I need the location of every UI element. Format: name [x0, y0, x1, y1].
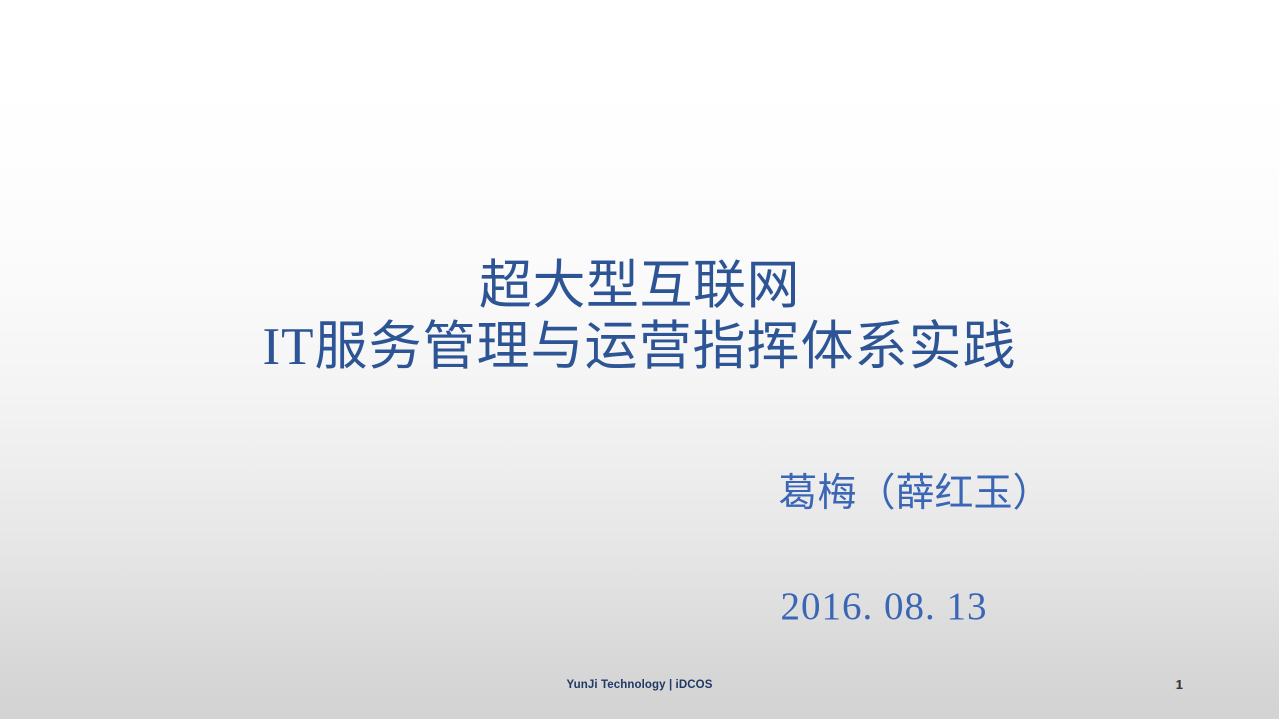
- slide-title: 超大型互联网 IT服务管理与运营指挥体系实践: [0, 256, 1279, 379]
- footer-branding: YunJi Technology | iDCOS: [0, 679, 1279, 691]
- presentation-date: 2016. 08. 13: [640, 584, 1128, 629]
- author-name: 葛梅（薛红玉）: [640, 462, 1190, 518]
- presentation-slide: 超大型互联网 IT服务管理与运营指挥体系实践 葛梅（薛红玉） 2016. 08.…: [0, 0, 1279, 719]
- slide-footer: YunJi Technology | iDCOS 1: [0, 679, 1279, 695]
- title-line-1: 超大型互联网: [0, 256, 1279, 317]
- title-line-2: IT服务管理与运营指挥体系实践: [0, 317, 1279, 378]
- page-number: 1: [1176, 678, 1183, 692]
- slide-byline: 葛梅（薛红玉） 2016. 08. 13: [640, 462, 1190, 629]
